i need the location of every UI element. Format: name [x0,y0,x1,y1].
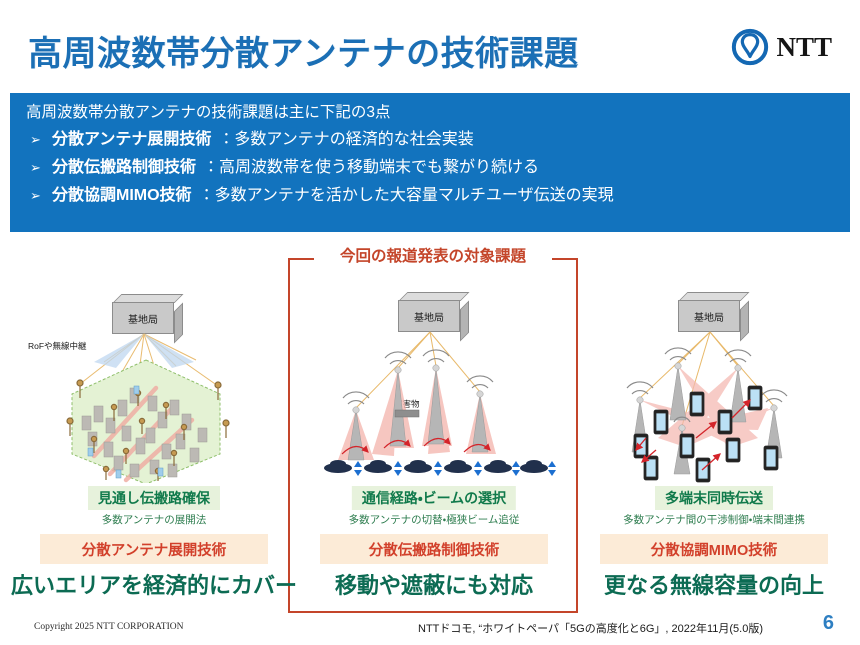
banner-term-1: 分散アンテナ展開技術 [52,127,211,153]
copyright-text: Copyright 2025 NTT CORPORATION [34,622,183,632]
banner-desc-1: ：多数アンテナの経済的な社会実装 [218,127,473,153]
highlight-frame-top-right [550,258,578,260]
figure-antenna-deployment: 基地局 RoFや無線中継 [18,288,290,483]
figure-path-control: 基地局 障害物 [298,288,570,483]
chevron-right-icon: ➢ [30,129,45,150]
panel-coordinated-mimo: 基地局 [578,288,850,598]
panel-mid-tech-label: 分散伝搬路制御技術 [320,534,548,564]
mimo-diagram-svg [578,288,850,483]
chevron-right-icon: ➢ [30,157,45,178]
ntt-logo: NTT [731,28,832,66]
obstacle-block [395,410,419,417]
panel-path-control: 基地局 障害物 [298,288,570,598]
banner-bullet-3: ➢ 分散協調MIMO技術 ：多数アンテナを活かした大容量マルチユーザ伝送の実現 [24,183,836,209]
panel-right-outcome: 更なる無線容量の向上 [604,568,824,600]
chevron-right-icon: ➢ [30,185,45,206]
panel-left-tech-label: 分散アンテナ展開技術 [40,534,268,564]
banner-term-3: 分散協調MIMO技術 [52,183,192,209]
page-title: 高周波数帯分散アンテナの技術課題 [28,26,579,75]
banner-term-2: 分散伝搬路制御技術 [52,155,196,181]
figure-coordinated-mimo: 基地局 [578,288,850,483]
deployment-diagram-svg [18,288,290,483]
panel-right-green-label: 多端末同時伝送 [655,486,773,510]
ntt-wordmark: NTT [776,32,832,63]
panel-left-outcome: 広いエリアを経済的にカバー [11,568,297,600]
radio-wave-icons [343,350,493,404]
path-control-diagram-svg [298,288,570,483]
panel-mid-green-label: 通信経路・ビームの選択 [352,486,516,510]
highlight-frame-top-left [288,258,316,260]
page-number: 6 [823,612,834,635]
panel-antenna-deployment: 基地局 RoFや無線中継 [18,288,290,598]
banner-bullet-1: ➢ 分散アンテナ展開技術 ：多数アンテナの経済的な社会実装 [24,127,836,153]
highlight-label: 今回の報道発表の対象課題 [314,244,552,266]
panel-mid-outcome: 移動や遮蔽にも対応 [335,568,533,600]
panel-mid-sub-label: 多数アンテナの切替・極狭ビーム追従 [349,512,520,527]
banner-bullet-2: ➢ 分散伝搬路制御技術 ：高周波数帯を使う移動端末でも繋がり続ける [24,155,836,181]
ntt-circle-icon [731,28,769,66]
panel-right-sub-label: 多数アンテナ間の干渉制御・端末間連携 [623,512,805,527]
panel-right-tech-label: 分散協調MIMO技術 [600,534,828,564]
banner-desc-2: ：高周波数帯を使う移動端末でも繋がり続ける [203,155,539,181]
summary-banner: 高周波数帯分散アンテナの技術課題は主に下記の3点 ➢ 分散アンテナ展開技術 ：多… [10,93,850,232]
panel-left-green-label: 見通し伝搬路確保 [88,486,220,510]
banner-desc-3: ：多数アンテナを活かした大容量マルチユーザ伝送の実現 [199,183,614,209]
citation-text: NTTドコモ, “ホワイトペーパ「5Gの高度化と6G」, 2022年11月(5.… [418,620,763,636]
backhaul-links [356,332,480,408]
title-bar: 高周波数帯分散アンテナの技術課題 NTT [0,18,860,80]
banner-lead-text: 高周波数帯分散アンテナの技術課題は主に下記の3点 [24,101,836,125]
panel-left-sub-label: 多数アンテナの展開法 [102,512,207,527]
